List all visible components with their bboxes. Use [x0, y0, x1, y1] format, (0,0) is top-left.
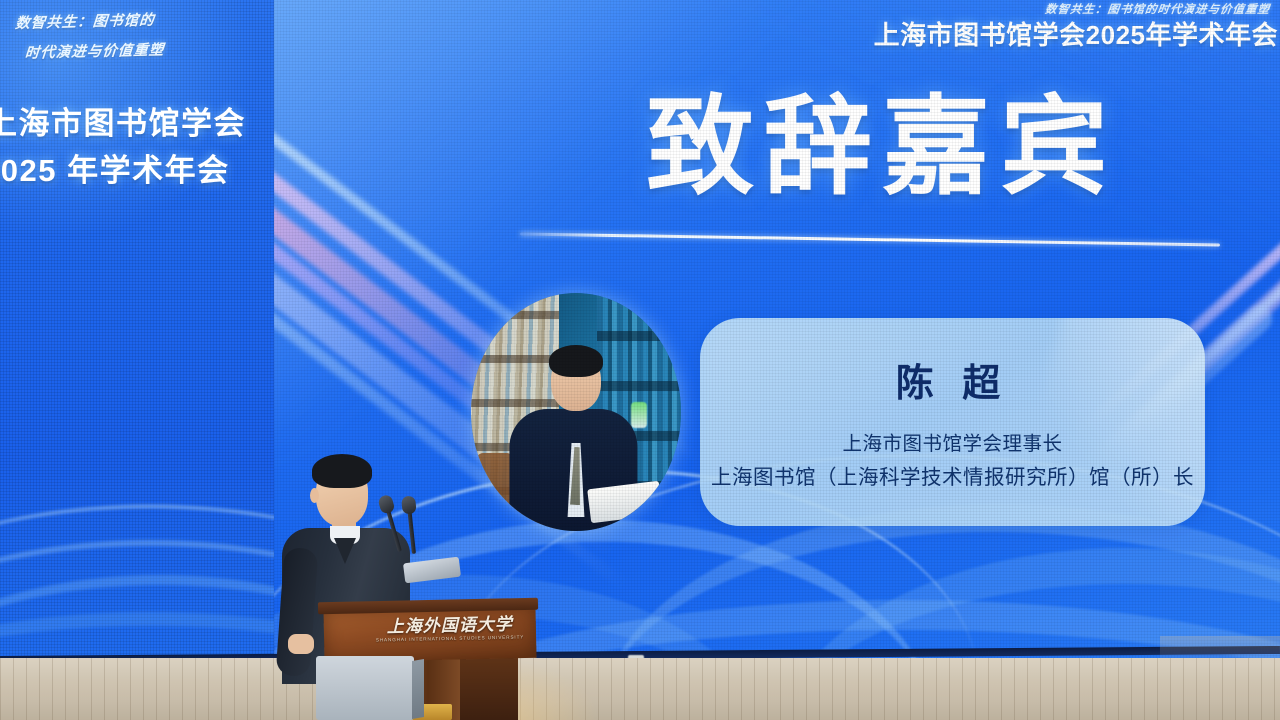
- confidence-monitor-box: [316, 656, 414, 720]
- guest-name: 陈 超: [700, 352, 1205, 407]
- left-calligraphy-line-2: 时代演进与价值重塑: [24, 33, 264, 69]
- header-event-title: 上海市图书馆学会2025年学术年会: [810, 18, 1280, 52]
- header-calligraphy: 数智共生：图书馆的时代演进与价值重塑: [809, 2, 1280, 18]
- name-card-sheen: [998, 318, 1205, 526]
- right-wall-shade: [1160, 636, 1280, 664]
- hall-wall-panel: [0, 658, 1280, 720]
- speaker-ear: [310, 488, 319, 503]
- shelf-lamp: [631, 402, 647, 428]
- portrait-chair: [477, 453, 513, 521]
- speaker-hand: [288, 634, 314, 654]
- guest-titles: 上海市图书馆学会理事长 上海图书馆（上海科学技术情报研究所）馆（所）长: [700, 428, 1205, 494]
- left-title-line-2: 2025 年学术年会: [0, 147, 256, 194]
- monitor-box-side: [412, 659, 424, 719]
- left-panel-title: 上海市图书馆学会 2025 年学术年会: [0, 100, 256, 194]
- left-wave-4: [0, 612, 274, 660]
- main-slide-title: 致辞嘉宾: [646, 72, 1118, 222]
- speaker-hair: [312, 454, 372, 488]
- wall-slats: [0, 658, 1280, 720]
- podium-university-plaque: 上海外国语大学 SHANGHAI INTERNATIONAL STUDIES U…: [374, 614, 527, 657]
- left-led-panel: 数智共生：图书馆的 时代演进与价值重塑 上海市图书馆学会 2025 年学术年会: [0, 0, 274, 660]
- screen-header: 数智共生：图书馆的时代演进与价值重塑 上海市图书馆学会2025年学术年会: [810, 2, 1280, 52]
- guest-name-card: 陈 超 上海市图书馆学会理事长 上海图书馆（上海科学技术情报研究所）馆（所）长: [700, 318, 1205, 526]
- portrait-hair: [549, 345, 603, 377]
- conference-stage-screenshot: 数智共生：图书馆的 时代演进与价值重塑 上海市图书馆学会 2025 年学术年会: [0, 0, 1280, 720]
- guest-title-line-2: 上海图书馆（上海科学技术情报研究所）馆（所）长: [700, 461, 1205, 494]
- guest-portrait-photo: [471, 293, 681, 531]
- left-title-line-1: 上海市图书馆学会: [0, 100, 256, 147]
- guest-title-line-1: 上海市图书馆学会理事长: [700, 428, 1205, 461]
- left-panel-calligraphy: 数智共生：图书馆的 时代演进与价值重塑: [12, 3, 267, 69]
